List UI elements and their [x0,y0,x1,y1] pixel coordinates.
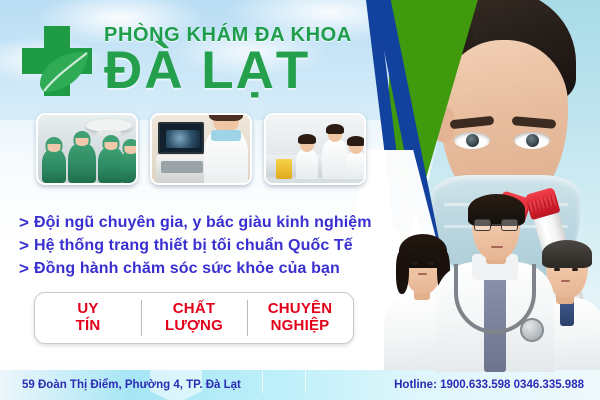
list-item: > Đội ngũ chuyên gia, y bác giàu kinh ng… [14,211,444,234]
clinic-hotline: Hotline: 1900.633.598 0346.335.988 [394,379,584,391]
value-proposition-box: UY TÍN CHẤT LƯỢNG CHUYÊN NGHIỆP [34,292,354,344]
hexagon-outline-decoration [262,370,306,400]
man-eye-left [454,132,490,149]
value-item-chuyen-nghiep: CHUYÊN NGHIỆP [247,293,353,343]
value-item-chat-luong: CHẤT LƯỢNG [141,293,247,343]
clinic-name: ĐÀ LẠT [104,44,310,97]
list-item: > Hệ thống trang thiết bị tối chuẩn Quốc… [14,234,444,257]
biohazard-bin [276,159,292,179]
feature-text: Đồng hành chăm sóc sức khỏe của bạn [34,260,340,278]
ultrasound-machine [156,155,208,183]
value-line-1: CHẤT [173,301,215,318]
doctor-mouth [561,280,570,282]
lab-technician [296,149,318,179]
surgeon [120,151,138,183]
chevron-right-icon: > [14,260,34,277]
surgeon [68,143,96,183]
value-line-2: NGHIỆP [271,318,330,335]
ultrasound-monitor [158,122,204,154]
lab-technician [322,139,348,179]
value-item-uy-tin: UY TÍN [35,293,141,343]
doctor-mouth [491,246,503,248]
feature-text: Đội ngũ chuyên gia, y bác giàu kinh nghi… [34,214,372,232]
chevron-right-icon: > [14,237,34,254]
man-eye-right [514,132,550,149]
surgery-team-photo [36,113,138,185]
surgeon [42,149,66,183]
clinic-address: 59 Đoàn Thị Điểm, Phường 4, TP. Đà Lạt [22,379,241,391]
technician [204,127,248,183]
value-line-2: TÍN [76,318,101,335]
chevron-right-icon: > [14,214,34,231]
green-medical-cross-with-leaf-icon [14,22,100,108]
photo-thumbnail-row [36,113,366,185]
value-line-2: LƯỢNG [165,318,223,335]
lab-technician [346,151,366,179]
eyeglasses-icon [472,219,520,232]
laboratory-photo [264,113,366,185]
value-line-1: UY [77,301,98,318]
feature-list: > Đội ngũ chuyên gia, y bác giàu kinh ng… [14,211,444,280]
male-doctor-with-stethoscope [436,187,554,372]
clinic-logo [14,22,100,108]
clinic-banner: PHÒNG KHÁM ĐA KHOA ĐÀ LẠT [0,0,600,400]
ultrasound-exam-photo [150,113,252,185]
value-line-1: CHUYÊN [268,301,333,318]
feature-text: Hệ thống trang thiết bị tối chuẩn Quốc T… [34,237,353,255]
list-item: > Đồng hành chăm sóc sức khỏe của bạn [14,257,444,280]
footer-bar: 59 Đoàn Thị Điểm, Phường 4, TP. Đà Lạt H… [0,370,600,400]
